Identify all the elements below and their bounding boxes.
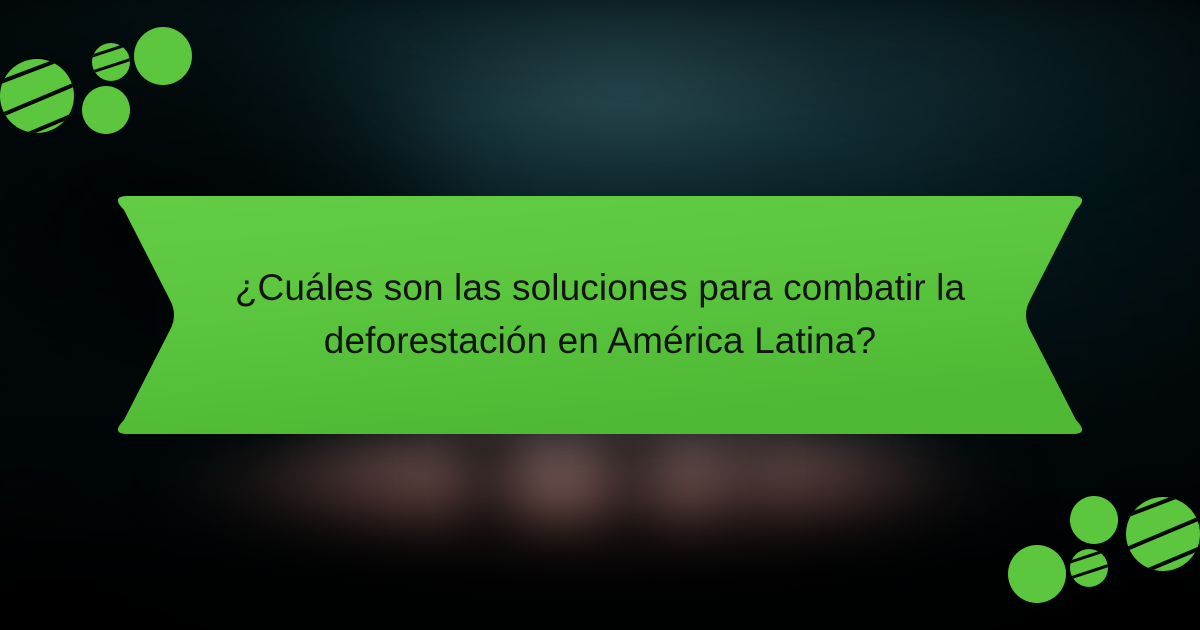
ribbon-text-container: ¿Cuáles son las soluciones para combatir… xyxy=(110,196,1090,434)
page-title: ¿Cuáles son las soluciones para combatir… xyxy=(230,262,970,367)
share-card: ¿Cuáles son las soluciones para combatir… xyxy=(0,0,1200,630)
